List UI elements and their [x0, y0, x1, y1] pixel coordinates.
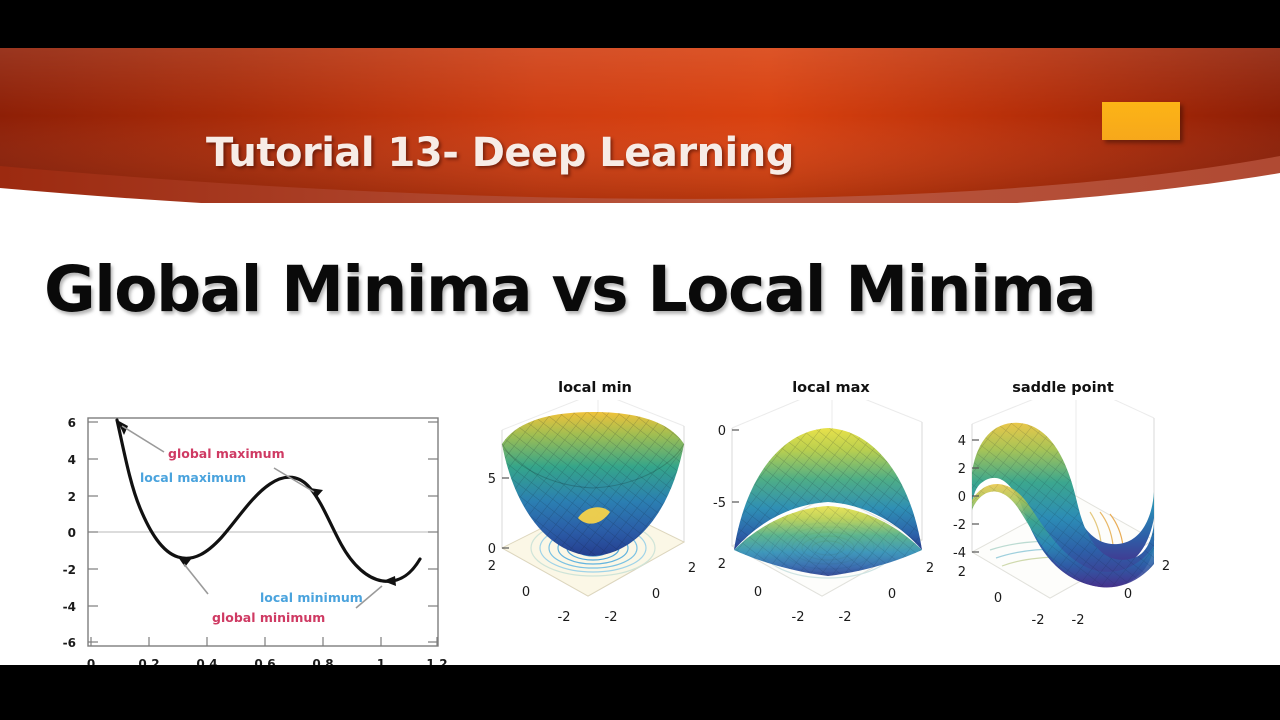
- plot-title: saddle point: [938, 380, 1188, 396]
- y-tick-label: -2: [558, 610, 571, 625]
- x-tick-label: 0.2: [138, 657, 159, 665]
- z-tick-marks: [732, 430, 739, 502]
- annotation-global-maximum: global maximum: [168, 446, 285, 461]
- annotation-local-minimum: local minimum: [260, 590, 363, 605]
- y-tick-label: 2: [718, 557, 726, 572]
- z-tick-label: 0: [488, 542, 496, 557]
- y-tick-label: -4: [63, 600, 76, 614]
- y-tick-label: 2: [488, 559, 496, 574]
- x-tick-label: 0: [888, 587, 896, 602]
- figures-row: 6 4 2 0 -2 -4 -6 0 0.2 0.4 0.6 0.8 1 1.2: [0, 378, 1280, 665]
- x-tick-label: 0: [652, 587, 660, 602]
- slide-page: Tutorial 13- Deep Learning Global Minima…: [0, 48, 1280, 665]
- x-tick-label: 2: [688, 561, 696, 576]
- banner-title: Tutorial 13- Deep Learning: [206, 130, 794, 176]
- video-slide: Tutorial 13- Deep Learning Global Minima…: [0, 0, 1280, 720]
- y-tick-label: 6: [68, 416, 76, 430]
- x-tick-label: 2: [1162, 559, 1170, 574]
- y-tick-label: 4: [68, 453, 76, 467]
- x-tick-label: 0.8: [312, 657, 333, 665]
- plot-local-min: local min: [470, 378, 720, 628]
- x-tick-label: -2: [839, 610, 852, 625]
- y-tick-label: 0: [68, 526, 76, 540]
- accent-rectangle: [1102, 102, 1180, 140]
- plot-title: local min: [470, 380, 720, 396]
- x-tick-label: 0: [1124, 587, 1132, 602]
- x-tick-label: 0.6: [254, 657, 275, 665]
- z-tick-label: 0: [958, 490, 966, 505]
- x-tick-label: 1: [377, 657, 385, 665]
- page-title: Global Minima vs Local Minima: [44, 253, 1095, 326]
- x-tick-label: 2: [926, 561, 934, 576]
- y-tick-label: -2: [63, 563, 76, 577]
- z-tick-marks: [502, 478, 509, 548]
- z-tick-label: -2: [953, 518, 966, 533]
- z-tick-label: -5: [713, 496, 726, 511]
- letterbox-top: [0, 0, 1280, 48]
- annotation-local-maximum: local maximum: [140, 470, 246, 485]
- y-tick-label: 0: [754, 585, 762, 600]
- x-tick-label: -2: [1072, 613, 1085, 628]
- y-tick-label: -6: [63, 636, 76, 650]
- x-tick-label: 0.4: [196, 657, 217, 665]
- annotation-global-minimum: global minimum: [212, 610, 325, 625]
- y-tick-label: 0: [994, 591, 1002, 606]
- y-tick-label: 2: [68, 490, 76, 504]
- y-tick-label: 2: [958, 565, 966, 580]
- chart-annotated-curve: 6 4 2 0 -2 -4 -6 0 0.2 0.4 0.6 0.8 1 1.2: [38, 396, 450, 665]
- y-tick-label: -2: [1032, 613, 1045, 628]
- z-tick-label: 0: [718, 424, 726, 439]
- x-tick-label: 0: [87, 657, 95, 665]
- z-tick-label: 5: [488, 472, 496, 487]
- letterbox-bottom: [0, 665, 1280, 720]
- plot-saddle-point: saddle point: [938, 378, 1188, 628]
- z-tick-label: 2: [958, 462, 966, 477]
- y-tick-label: 0: [522, 585, 530, 600]
- plot-local-max: local max: [706, 378, 956, 628]
- z-tick-label: -4: [953, 546, 966, 561]
- y-tick-label: -2: [792, 610, 805, 625]
- header-banner: Tutorial 13- Deep Learning: [0, 48, 1280, 198]
- x-tick-label: 1.2: [426, 657, 447, 665]
- plot-title: local max: [706, 380, 956, 396]
- x-tick-label: -2: [605, 610, 618, 625]
- z-tick-label: 4: [958, 434, 966, 449]
